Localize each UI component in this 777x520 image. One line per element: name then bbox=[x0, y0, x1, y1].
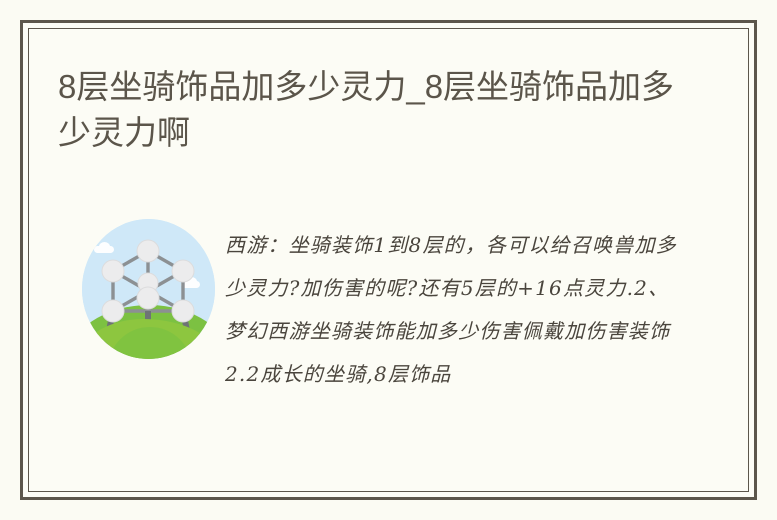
article-body-text: 西游：坐骑装饰1到8层的，各可以给召唤兽加多少灵力?加伤害的呢?还有5层的+16… bbox=[225, 224, 677, 396]
article-card-frame-inner: 8层坐骑饰品加多少灵力_8层坐骑饰品加多少灵力啊 bbox=[28, 28, 749, 492]
article-card-frame-outer: 8层坐骑饰品加多少灵力_8层坐骑饰品加多少灵力啊 bbox=[20, 20, 757, 500]
thumbnail-circle-mask bbox=[82, 219, 215, 359]
page-title: 8层坐骑饰品加多少灵力_8层坐骑饰品加多少灵力啊 bbox=[58, 64, 683, 156]
article-thumbnail bbox=[82, 219, 215, 359]
